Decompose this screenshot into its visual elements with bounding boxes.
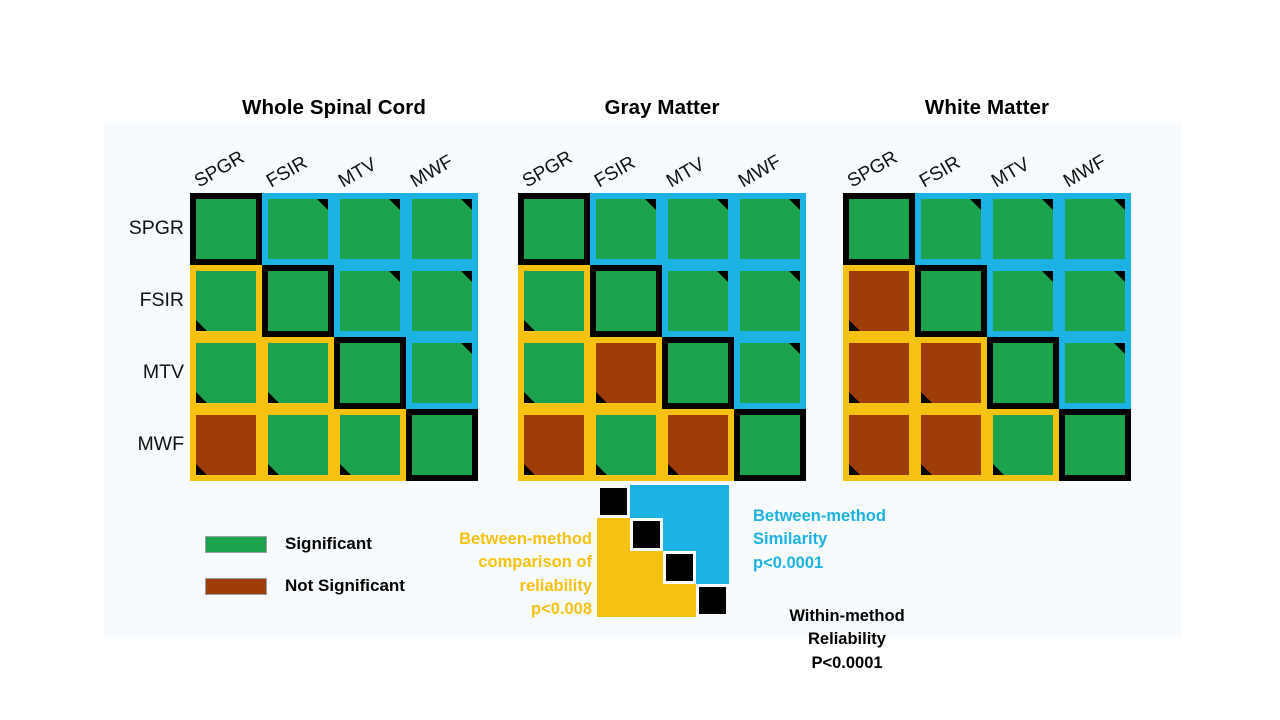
matrix-cell — [334, 409, 406, 481]
schematic-diagonal-square — [666, 554, 693, 581]
schematic-diagonal-square — [633, 521, 660, 548]
matrix-cell — [518, 193, 590, 265]
cell-corner-marker-icon — [645, 199, 656, 210]
significance-legend-item: Not Significant — [205, 576, 405, 596]
cell-corner-marker-icon — [524, 392, 535, 403]
matrix-cell — [334, 265, 406, 337]
matrix-cell — [662, 265, 734, 337]
matrix-cell — [734, 193, 806, 265]
row-header: FSIR — [140, 291, 184, 311]
matrix-cell-fill — [734, 409, 806, 481]
matrix-cell — [734, 265, 806, 337]
cell-corner-marker-icon — [389, 271, 400, 282]
cell-corner-marker-icon — [317, 199, 328, 210]
matrix-cell — [406, 409, 478, 481]
row-header: MTV — [143, 363, 184, 383]
matrix-cell — [843, 337, 915, 409]
column-header-row: SPGRFSIRMTVMWF — [518, 135, 806, 193]
cell-corner-marker-icon — [1114, 199, 1125, 210]
cell-corner-marker-icon — [849, 464, 860, 475]
matrix-cell — [262, 409, 334, 481]
legend-caption-between-method-reliability: Between-method comparison of reliability… — [420, 528, 592, 622]
matrix-cell — [843, 409, 915, 481]
matrix-cell-fill — [662, 337, 734, 409]
column-header: FSIR — [263, 152, 311, 193]
schematic-upper-block — [663, 518, 729, 551]
matrix-cell — [590, 337, 662, 409]
column-header: FSIR — [916, 152, 964, 193]
schematic-diagonal-square — [600, 488, 627, 515]
cell-corner-marker-icon — [461, 199, 472, 210]
matrix-cell — [518, 409, 590, 481]
matrix-cell — [590, 265, 662, 337]
matrix-cell — [190, 409, 262, 481]
schematic-lower-block — [597, 518, 630, 551]
matrix-title: Whole Spinal Cord — [190, 96, 478, 120]
matrix-cell — [915, 409, 987, 481]
significance-label: Not Significant — [285, 576, 405, 596]
matrix-cell — [734, 409, 806, 481]
cell-corner-marker-icon — [389, 199, 400, 210]
cell-corner-marker-icon — [668, 464, 679, 475]
column-header: SPGR — [844, 147, 902, 193]
matrix-cell — [590, 193, 662, 265]
matrix-cell — [190, 265, 262, 337]
column-header-row: SPGRFSIRMTVMWF — [190, 135, 478, 193]
cell-corner-marker-icon — [340, 464, 351, 475]
legend-caption-within-method-reliability: Within-method Reliability P<0.0001 — [742, 605, 952, 675]
row-header: SPGR — [129, 219, 184, 239]
matrix-cell — [915, 337, 987, 409]
matrix-cell — [406, 337, 478, 409]
matrix-cell — [987, 193, 1059, 265]
matrix-cell-fill — [518, 193, 590, 265]
matrix-cell-fill — [334, 337, 406, 409]
matrix-cell — [915, 193, 987, 265]
cell-corner-marker-icon — [268, 392, 279, 403]
schematic-lower-block — [597, 584, 696, 617]
significance-swatch — [205, 536, 267, 553]
cell-corner-marker-icon — [849, 320, 860, 331]
matrix-cell — [662, 337, 734, 409]
matrix-cell — [590, 409, 662, 481]
column-header: MTV — [335, 154, 381, 193]
matrix-cell-fill — [987, 337, 1059, 409]
matrix-cell — [262, 193, 334, 265]
matrix-cell — [843, 265, 915, 337]
schematic-lower-block — [597, 551, 663, 584]
matrix-panel: Gray MatterSPGRFSIRMTVMWF — [518, 193, 806, 481]
column-header: MWF — [1060, 151, 1110, 193]
column-header: MWF — [735, 151, 785, 193]
cell-corner-marker-icon — [461, 271, 472, 282]
matrix-cell — [406, 265, 478, 337]
column-header-row: SPGRFSIRMTVMWF — [843, 135, 1131, 193]
cell-corner-marker-icon — [1114, 271, 1125, 282]
schematic-diagonal-square — [699, 587, 726, 614]
cell-corner-marker-icon — [524, 320, 535, 331]
cell-corner-marker-icon — [849, 392, 860, 403]
column-header: FSIR — [591, 152, 639, 193]
matrix-panel: White MatterSPGRFSIRMTVMWF — [843, 193, 1131, 481]
matrix-title: White Matter — [843, 96, 1131, 120]
cell-corner-marker-icon — [268, 464, 279, 475]
significance-swatch — [205, 578, 267, 595]
matrix-cell — [262, 265, 334, 337]
matrix-cell — [190, 337, 262, 409]
matrix-cell — [843, 193, 915, 265]
matrix-cell — [1059, 409, 1131, 481]
matrix-cell — [915, 265, 987, 337]
matrix-cell — [334, 193, 406, 265]
column-header: MTV — [988, 154, 1034, 193]
cell-corner-marker-icon — [921, 392, 932, 403]
cell-corner-marker-icon — [717, 271, 728, 282]
cell-corner-marker-icon — [921, 464, 932, 475]
matrix-title: Gray Matter — [518, 96, 806, 120]
cell-corner-marker-icon — [789, 271, 800, 282]
cell-corner-marker-icon — [596, 464, 607, 475]
matrix-panel: Whole Spinal CordSPGRFSIRMTVMWFSPGRFSIRM… — [190, 193, 478, 481]
matrix-cell — [987, 265, 1059, 337]
matrix-cell — [334, 337, 406, 409]
cell-corner-marker-icon — [196, 392, 207, 403]
matrix-cell — [987, 409, 1059, 481]
matrix-cell — [1059, 193, 1131, 265]
cell-corner-marker-icon — [461, 343, 472, 354]
legend-caption-between-method-similarity: Between-method Similarity p<0.0001 — [753, 505, 973, 575]
matrix-cell-fill — [262, 265, 334, 337]
border-legend-schematic — [597, 485, 745, 621]
matrix-cell — [262, 337, 334, 409]
matrix-cell — [406, 193, 478, 265]
matrix-cell-fill — [915, 265, 987, 337]
significance-legend-item: Significant — [205, 534, 372, 554]
schematic-upper-block — [630, 485, 729, 518]
matrix-cell — [518, 265, 590, 337]
cell-corner-marker-icon — [717, 199, 728, 210]
column-header: SPGR — [519, 147, 577, 193]
matrix-cell — [1059, 265, 1131, 337]
column-header: MWF — [407, 151, 457, 193]
figure-canvas: Whole Spinal CordSPGRFSIRMTVMWFSPGRFSIRM… — [0, 0, 1280, 720]
column-header: MTV — [663, 154, 709, 193]
column-header: SPGR — [191, 147, 249, 193]
cell-corner-marker-icon — [789, 199, 800, 210]
matrix-cell — [1059, 337, 1131, 409]
matrix-cell — [734, 337, 806, 409]
significance-label: Significant — [285, 534, 372, 554]
matrix-cell — [662, 409, 734, 481]
cell-corner-marker-icon — [596, 392, 607, 403]
matrix-cell-fill — [190, 193, 262, 265]
cell-corner-marker-icon — [993, 464, 1004, 475]
schematic-upper-block — [696, 551, 729, 584]
matrix-cell-fill — [590, 265, 662, 337]
cell-corner-marker-icon — [196, 464, 207, 475]
matrix-cell — [662, 193, 734, 265]
matrix-cell-fill — [843, 193, 915, 265]
matrix-cell — [987, 337, 1059, 409]
cell-corner-marker-icon — [1042, 271, 1053, 282]
matrix-cell-fill — [406, 409, 478, 481]
cell-corner-marker-icon — [970, 199, 981, 210]
cell-corner-marker-icon — [1114, 343, 1125, 354]
cell-corner-marker-icon — [789, 343, 800, 354]
matrix-cell — [190, 193, 262, 265]
cell-corner-marker-icon — [524, 464, 535, 475]
matrix-cell-fill — [1059, 409, 1131, 481]
matrix-cell — [518, 337, 590, 409]
row-header: MWF — [137, 435, 184, 455]
cell-corner-marker-icon — [196, 320, 207, 331]
cell-corner-marker-icon — [1042, 199, 1053, 210]
